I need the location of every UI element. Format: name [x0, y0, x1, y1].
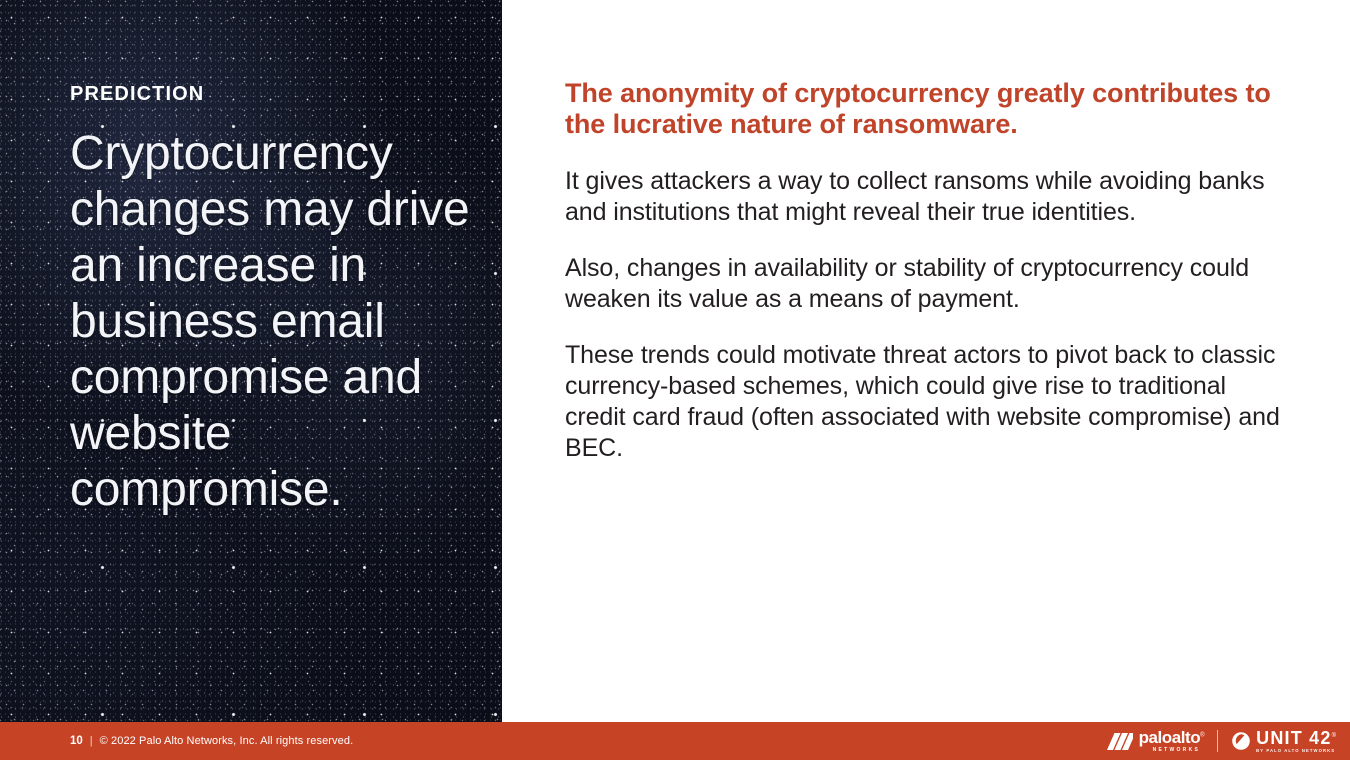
footer-separator: |: [90, 735, 93, 747]
unit42-wordmark: UNIT 42®: [1256, 729, 1336, 747]
footer-bar: 10 | © 2022 Palo Alto Networks, Inc. All…: [0, 722, 1350, 760]
slide: PREDICTION Cryptocurrency changes may dr…: [0, 0, 1350, 760]
body-paragraph-1: It gives attackers a way to collect rans…: [565, 166, 1288, 228]
section-kicker: PREDICTION: [70, 84, 470, 104]
paloalto-trademark: ®: [1200, 732, 1204, 738]
copyright-text: © 2022 Palo Alto Networks, Inc. All righ…: [100, 735, 354, 747]
right-body-panel: The anonymity of cryptocurrency greatly …: [502, 0, 1350, 722]
paloalto-tagline: NETWORKS: [1153, 748, 1205, 753]
paloalto-logo: paloalto® NETWORKS: [1107, 729, 1205, 753]
unit42-wordmark-group: UNIT 42® BY PALO ALTO NETWORKS: [1256, 729, 1336, 753]
body-paragraph-2: Also, changes in availability or stabili…: [565, 253, 1288, 315]
unit42-trademark: ®: [1332, 733, 1336, 739]
page-number: 10: [70, 735, 83, 747]
unit42-swoosh-icon: [1231, 731, 1251, 751]
body-content: The anonymity of cryptocurrency greatly …: [565, 78, 1288, 464]
left-title-panel: PREDICTION Cryptocurrency changes may dr…: [0, 0, 502, 722]
footer-left-group: 10 | © 2022 Palo Alto Networks, Inc. All…: [70, 722, 353, 760]
logo-divider: [1217, 730, 1218, 752]
paloalto-wordmark: paloalto®: [1139, 729, 1205, 746]
unit42-logo: UNIT 42® BY PALO ALTO NETWORKS: [1231, 729, 1336, 753]
lead-statement: The anonymity of cryptocurrency greatly …: [565, 78, 1288, 140]
paloalto-wordmark-group: paloalto® NETWORKS: [1139, 729, 1205, 753]
footer-logo-group: paloalto® NETWORKS UNIT 42® BY PALO ALTO…: [1107, 722, 1336, 760]
slide-headline: Cryptocurrency changes may drive an incr…: [70, 126, 470, 518]
body-paragraph-3: These trends could motivate threat actor…: [565, 340, 1288, 464]
unit42-tagline: BY PALO ALTO NETWORKS: [1256, 749, 1335, 753]
left-panel-content: PREDICTION Cryptocurrency changes may dr…: [70, 84, 470, 518]
paloalto-bars-icon: [1107, 733, 1133, 750]
